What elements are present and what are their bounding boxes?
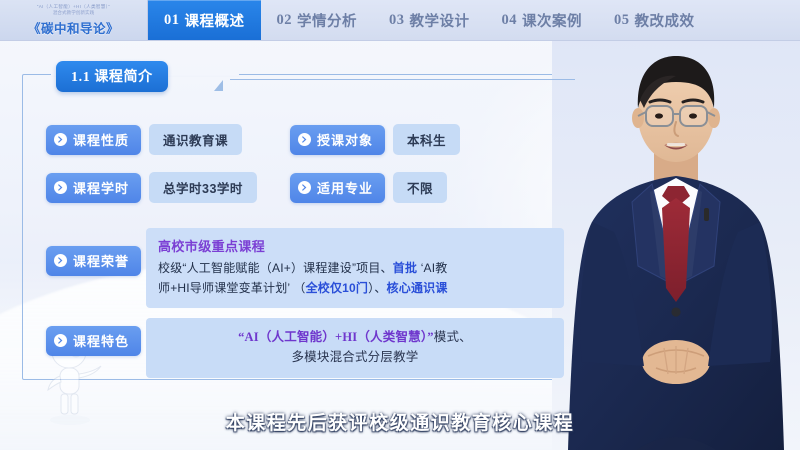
brand-subtitle-line2: 混合式教学创新实践 xyxy=(53,10,94,16)
value-major: 不限 xyxy=(393,172,447,203)
chevron-right-circle-icon xyxy=(54,334,67,347)
label-chip-feature-text: 课程特色 xyxy=(73,331,129,350)
tab-01-number: 01 xyxy=(164,12,180,29)
chevron-right-circle-icon xyxy=(54,133,67,146)
chevron-right-circle-icon xyxy=(298,133,311,146)
info-row-hours: 课程学时 总学时33学时 xyxy=(46,172,257,203)
tab-04-number: 04 xyxy=(502,12,518,29)
presenter-photo xyxy=(552,26,800,450)
value-nature: 通识教育课 xyxy=(149,124,242,155)
label-chip-major-text: 适用专业 xyxy=(317,178,373,197)
honor-line2-highlight-count: 全校仅10门 xyxy=(306,281,369,295)
section-triangle-accent xyxy=(214,80,223,91)
section-rule xyxy=(230,79,575,80)
label-chip-hours[interactable]: 课程学时 xyxy=(46,173,141,203)
tab-02-label: 学情分析 xyxy=(297,10,357,31)
label-chip-nature-text: 课程性质 xyxy=(73,130,129,149)
honor-line1-highlight: 首批 xyxy=(393,261,417,275)
chevron-right-circle-icon xyxy=(54,181,67,194)
tab-05-reform-outcomes[interactable]: 05 教改成效 xyxy=(598,0,711,40)
video-subtitle: 本课程先后获评校级通识教育核心课程 xyxy=(0,408,800,435)
feature-mode-text: “AI（人工智能）+HI（人类智慧）” xyxy=(238,330,434,344)
tab-05-number: 05 xyxy=(614,12,630,29)
feature-line1-tail: 模式、 xyxy=(434,330,472,344)
tab-05-label: 教改成效 xyxy=(635,10,695,31)
tab-03-number: 03 xyxy=(389,12,405,29)
value-hours: 总学时33学时 xyxy=(149,172,257,203)
section-title-pill: 1.1课程简介 xyxy=(56,61,168,92)
nav-tabs: 01 课程概述 02 学情分析 03 教学设计 04 课次案例 05 教改成效 xyxy=(148,0,800,40)
feature-content-box: “AI（人工智能）+HI（人类智慧）”模式、 多模块混合式分层教学 xyxy=(146,318,564,378)
brand-block: “AI（人工智能）+HI（人类智慧）” 混合式教学创新实践 《碳中和导论》 xyxy=(0,0,148,40)
info-row-audience: 授课对象 本科生 xyxy=(290,124,460,155)
honor-content-box: 高校市级重点课程 校级“人工智能赋能（AI+）课程建设”项目、首批 ‘AI教 师… xyxy=(146,228,564,308)
label-chip-honor-text: 课程荣誉 xyxy=(73,251,129,270)
honor-line2-a: 师+HI导师课堂变革计划’ （ xyxy=(158,281,306,295)
brand-title: 《碳中和导论》 xyxy=(28,18,119,37)
chevron-right-circle-icon xyxy=(54,254,67,267)
tab-02-learner-analysis[interactable]: 02 学情分析 xyxy=(261,0,374,40)
label-chip-audience-text: 授课对象 xyxy=(317,130,373,149)
honor-line2-c: ）、 xyxy=(368,281,386,295)
tab-04-lesson-case[interactable]: 04 课次案例 xyxy=(486,0,599,40)
honor-line-2: 师+HI导师课堂变革计划’ （全校仅10门）、核心通识课 xyxy=(158,278,552,298)
label-chip-major[interactable]: 适用专业 xyxy=(290,173,385,203)
chevron-right-circle-icon xyxy=(298,181,311,194)
top-navigation-bar: “AI（人工智能）+HI（人类智慧）” 混合式教学创新实践 《碳中和导论》 01… xyxy=(0,0,800,41)
honor-line1-c: ‘AI教 xyxy=(417,261,447,275)
tab-03-label: 教学设计 xyxy=(410,10,470,31)
info-row-nature: 课程性质 通识教育课 xyxy=(46,124,242,155)
value-audience: 本科生 xyxy=(393,124,460,155)
label-chip-feature[interactable]: 课程特色 xyxy=(46,326,141,356)
section-label: 课程简介 xyxy=(94,68,152,84)
info-row-major: 适用专业 不限 xyxy=(290,172,447,203)
honor-title: 高校市级重点课程 xyxy=(158,236,552,255)
tab-04-label: 课次案例 xyxy=(522,10,582,31)
section-number: 1.1 xyxy=(71,70,90,85)
tab-03-instructional-design[interactable]: 03 教学设计 xyxy=(373,0,486,40)
label-chip-hours-text: 课程学时 xyxy=(73,178,129,197)
slide-stage: 1.1课程简介 课程性质 通识教育课 授课对象 本科生 课程学时 总学时33学时 xyxy=(0,0,800,450)
label-chip-audience[interactable]: 授课对象 xyxy=(290,125,385,155)
feature-line-1: “AI（人工智能）+HI（人类智慧）”模式、 xyxy=(156,327,554,347)
honor-line2-highlight-core: 核心通识课 xyxy=(387,281,448,295)
tab-01-course-overview[interactable]: 01 课程概述 xyxy=(148,0,261,40)
label-chip-nature[interactable]: 课程性质 xyxy=(46,125,141,155)
honor-line1-a: 校级“人工智能赋能（AI+）课程建设”项目、 xyxy=(158,261,393,275)
feature-line-2: 多模块混合式分层教学 xyxy=(156,347,554,367)
tab-01-label: 课程概述 xyxy=(185,10,245,31)
honor-line-1: 校级“人工智能赋能（AI+）课程建设”项目、首批 ‘AI教 xyxy=(158,258,552,278)
label-chip-honor[interactable]: 课程荣誉 xyxy=(46,246,141,276)
tab-02-number: 02 xyxy=(277,12,293,29)
